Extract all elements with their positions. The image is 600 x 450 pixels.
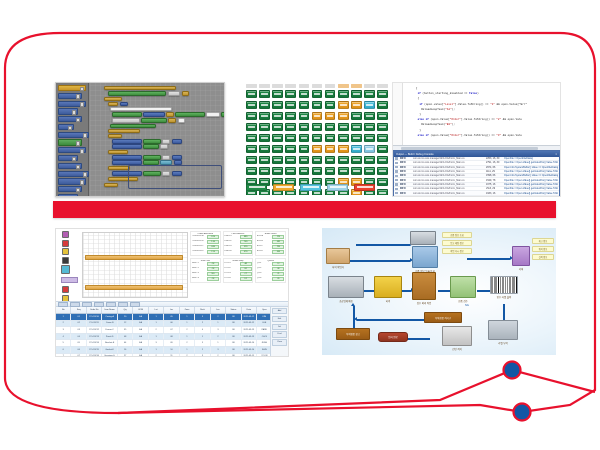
table-column-header[interactable]: Loc [164, 307, 179, 313]
note-value: 3.20 [207, 235, 219, 239]
close-icon[interactable]: × [555, 152, 557, 156]
toolbar-filter-button[interactable] [94, 302, 104, 307]
block-nub [76, 94, 80, 99]
table-side-buttons[interactable]: AddEditDelFindClose [270, 307, 288, 356]
status-cell[interactable] [259, 145, 270, 153]
code-block[interactable] [160, 160, 172, 165]
table-row[interactable]: 101PO-20210Casing-A20EA105132OK2021-03-1… [56, 314, 288, 321]
table-row[interactable]: 202PO-20211Cover-B12EA106121OK2021-03-12… [56, 321, 288, 328]
flow-annotation-ng-mark: NG [465, 304, 469, 307]
toolbar-print-button[interactable] [118, 302, 128, 307]
table-cell: 1 [56, 314, 71, 320]
table-cell: 3 [211, 347, 226, 353]
status-cell[interactable] [312, 145, 323, 153]
status-cell[interactable] [285, 101, 296, 109]
status-cell[interactable] [246, 156, 257, 164]
arrow-truck-to-unload [363, 290, 374, 292]
status-cell[interactable] [377, 156, 388, 164]
planning-board-panel[interactable]: Order AllocationITEM-0001-A3.20ITEM-0002… [55, 228, 289, 357]
code-console-panel[interactable]: {if (button_starting_disabled == false){… [392, 82, 561, 197]
code-token: (open.Value[ [429, 118, 450, 121]
code-block[interactable] [108, 102, 118, 106]
flow-node-shelving[interactable]: 선반 적치 [442, 326, 472, 351]
status-cell[interactable] [338, 167, 349, 175]
table-column-header[interactable]: Rack [195, 307, 210, 313]
table-cell: 2021-03-12 [242, 314, 257, 320]
note-value: 2.10 [207, 250, 219, 254]
status-cell[interactable] [259, 90, 270, 98]
toolbar-save-button[interactable] [82, 302, 92, 307]
status-cell[interactable] [259, 167, 270, 175]
status-cell[interactable] [325, 123, 336, 131]
status-cell[interactable] [325, 90, 336, 98]
status-cell[interactable] [364, 123, 375, 131]
note-group: Shift PlanSHIFT-1OKSHIFT-2OKSHIFT-3NGSHI… [190, 258, 221, 283]
code-token: "Order" [450, 118, 461, 121]
log-severity-icon [395, 192, 398, 194]
gantt-bar[interactable] [85, 285, 183, 290]
flow-node-icon-supply-vehicle [328, 276, 364, 298]
status-cell[interactable] [259, 112, 270, 120]
table-cell: 2021-03-14 [242, 340, 257, 346]
palette-block[interactable] [58, 178, 86, 184]
status-cell[interactable] [338, 112, 349, 120]
status-cell[interactable] [299, 123, 310, 131]
status-cell[interactable] [364, 167, 375, 175]
block-nub [76, 141, 80, 146]
table-cell: Casing-A [102, 314, 117, 320]
status-cell[interactable] [377, 90, 388, 98]
table-cell: 2 [180, 340, 195, 346]
log-console[interactable]: Output — Build / Debug Console × INFOcom… [393, 150, 560, 196]
toolbar-open-button[interactable] [70, 302, 80, 307]
flow-diagram-panel[interactable]: 입하 차량하역 작업자현품 정보 등록/조회서버공급업체 배송하역검수 의뢰 작… [322, 228, 556, 355]
code-token: } [419, 113, 421, 116]
status-cell[interactable] [338, 123, 349, 131]
code-block[interactable] [110, 107, 172, 111]
table-column-header[interactable]: No [56, 307, 71, 313]
table-cell: 7 [56, 354, 71, 357]
block-nub [80, 149, 84, 154]
status-cell[interactable] [285, 112, 296, 120]
table-cell: 2021-03-13 [242, 327, 257, 333]
planning-rail[interactable] [58, 231, 80, 299]
code-block[interactable] [143, 155, 161, 160]
table-row[interactable]: 707PO-20216Housing-G27EA211232OK2021-03-… [56, 354, 288, 357]
log-row-list[interactable]: INFOcom.sk.rcs.wcs.manager/AF/LOG/Form_M… [394, 157, 559, 196]
status-cell[interactable] [364, 112, 375, 120]
status-cell[interactable] [312, 90, 323, 98]
code-block[interactable] [182, 91, 189, 96]
palette-block[interactable] [58, 132, 89, 138]
legend-swatch-running [273, 184, 294, 191]
status-cell[interactable] [285, 145, 296, 153]
code-block[interactable] [143, 112, 165, 117]
table-cell: Frame-C [102, 327, 117, 333]
table-row[interactable]: 606PO-20215Gasket-F16EA110123OK2021-03-1… [56, 347, 288, 354]
code-block[interactable] [141, 118, 167, 123]
table-column-header[interactable]: Seq [71, 307, 86, 313]
status-cell[interactable] [377, 167, 388, 175]
code-block[interactable] [166, 112, 174, 117]
code-block[interactable] [143, 139, 161, 144]
palette-block[interactable] [58, 116, 82, 122]
flow-node-icon-complete: 입하 완료 [378, 332, 408, 342]
status-cell[interactable] [259, 101, 270, 109]
status-cell[interactable] [299, 145, 310, 153]
palette-block[interactable] [58, 139, 82, 145]
status-cell[interactable] [338, 156, 349, 164]
blocks-palette[interactable] [56, 83, 89, 196]
status-cell[interactable] [259, 156, 270, 164]
palette-block[interactable] [58, 93, 82, 99]
table-header-row: NoSeqOrder NoItem NameQtyUOMLotLocZoneRa… [56, 307, 288, 314]
code-block[interactable] [112, 118, 140, 123]
status-cell[interactable] [325, 156, 336, 164]
palette-block[interactable] [58, 163, 82, 169]
status-cell[interactable] [325, 112, 336, 120]
table-column-header[interactable]: Lev [211, 307, 226, 313]
table-cell: Cover-B [102, 321, 117, 327]
status-cell[interactable] [246, 101, 257, 109]
status-cell[interactable] [272, 145, 283, 153]
flow-node-supply-vehicle[interactable]: 공급업체 배송 [328, 276, 364, 303]
status-cell[interactable] [299, 167, 310, 175]
status-cell[interactable] [364, 134, 375, 142]
log-level: INFO [400, 157, 411, 160]
log-row[interactable]: INFOcom.sk.rcs.wcs.manager/AF/LOG/Form_M… [394, 191, 559, 195]
table-column-header[interactable]: Order No [87, 307, 102, 313]
palette-block[interactable] [58, 85, 86, 91]
note-value: C7 [240, 272, 252, 276]
note-label: LINE-03 [224, 245, 238, 249]
side-find-button[interactable]: Find [272, 331, 287, 337]
table-cell: Gasket-F [102, 347, 117, 353]
toolbar-export-button[interactable] [130, 302, 140, 307]
note-value: 1.40 [207, 240, 219, 244]
note-row: RT-101A3 [224, 262, 251, 266]
flow-node-ng-stock[interactable]: 부적합품 창고 [336, 328, 370, 340]
status-cell[interactable] [272, 90, 283, 98]
status-cell[interactable] [312, 101, 323, 109]
planning-gantt-grid[interactable] [82, 232, 188, 298]
flow-node-unload[interactable]: 하역 [374, 276, 402, 303]
status-cell[interactable] [338, 145, 349, 153]
palette-block[interactable] [58, 171, 89, 177]
status-cell[interactable] [325, 145, 336, 153]
status-cell[interactable] [364, 90, 375, 98]
table-column-header[interactable]: Lot [149, 307, 164, 313]
status-cell[interactable] [377, 178, 388, 186]
gantt-bar[interactable] [85, 255, 183, 260]
table-row[interactable]: 505PO-20214Bracket-E44EA309251OK2021-03-… [56, 340, 288, 347]
table-cell: OK [226, 321, 241, 327]
log-source: com.sk.rcs.wcs.manager/AF/LOG/Form_Main.… [413, 179, 484, 182]
status-cell[interactable] [325, 167, 336, 175]
log-position: 1111, 29 [486, 170, 502, 173]
status-cell[interactable] [246, 123, 257, 131]
pin-yellow-icon[interactable] [62, 248, 69, 255]
pin-purple-icon[interactable] [62, 231, 69, 238]
table-column-header[interactable]: Date [242, 307, 257, 313]
status-cell[interactable] [299, 112, 310, 120]
status-cell[interactable] [351, 123, 362, 131]
log-source: com.sk.rcs.wcs.manager/AF/LOG/Form_Main.… [413, 187, 484, 190]
status-cell[interactable] [377, 145, 388, 153]
code-block[interactable] [178, 118, 185, 123]
status-cell[interactable] [377, 134, 388, 142]
status-cell[interactable] [285, 90, 296, 98]
block-selection-outline [128, 165, 222, 189]
flow-node-label-unload: 하역 [386, 299, 390, 303]
status-cell[interactable] [377, 101, 388, 109]
code-block[interactable] [175, 112, 205, 117]
tag-lavender-icon[interactable] [61, 277, 78, 283]
status-cell[interactable] [246, 112, 257, 120]
note-row: ITEM-0001-A3.20 [192, 235, 219, 239]
status-cell[interactable] [285, 156, 296, 164]
status-cell[interactable] [272, 167, 283, 175]
status-cell[interactable] [325, 101, 336, 109]
flow-node-label-scan: 라벨 부착 [498, 341, 507, 345]
status-cell[interactable] [338, 90, 349, 98]
note-label: RT-103 [224, 272, 238, 276]
status-cell[interactable] [325, 134, 336, 142]
status-cell[interactable] [259, 134, 270, 142]
log-level: INFO [400, 170, 411, 173]
code-block[interactable] [108, 129, 140, 133]
flow-node-label-qc: 현품 검수 [458, 299, 467, 303]
code-block[interactable] [120, 102, 128, 106]
note-label: BUF-C [257, 245, 271, 249]
flow-node-inspect-doc[interactable]: 검수 의뢰 작업 [412, 272, 436, 305]
status-cell[interactable] [377, 189, 388, 195]
note-row: Q-0405 [257, 277, 284, 281]
block-nub [83, 172, 87, 177]
flow-node-icon-server [512, 246, 530, 266]
status-cell[interactable] [272, 101, 283, 109]
code-block[interactable] [108, 166, 130, 170]
palette-block[interactable] [58, 101, 86, 107]
code-block[interactable] [112, 112, 142, 117]
status-cell[interactable] [312, 112, 323, 120]
log-severity-icon [395, 157, 398, 159]
code-block[interactable] [110, 124, 156, 128]
palette-block[interactable] [58, 194, 78, 197]
status-cell[interactable] [246, 167, 257, 175]
code-token: && open.Valu [501, 118, 522, 121]
status-cell[interactable] [364, 101, 375, 109]
status-cell[interactable] [272, 123, 283, 131]
palette-block[interactable] [58, 155, 78, 161]
status-cell[interactable] [377, 123, 388, 131]
code-block[interactable] [104, 97, 122, 101]
flow-tag-tag-2: 입고 예정 정보 [442, 240, 472, 246]
code-token: ].Value.ToString() == [461, 118, 496, 121]
log-source: com.sk.rcs.wcs.manager/AF/LOG/Form_Main.… [413, 183, 484, 186]
arrow-vehicle-to-terminal [356, 244, 410, 246]
toolbar-sort-button[interactable] [106, 302, 116, 307]
status-cell[interactable] [351, 167, 362, 175]
status-cell[interactable] [246, 134, 257, 142]
table-cell: 01 [71, 314, 86, 320]
blocks-canvas[interactable] [90, 83, 224, 196]
status-cell[interactable] [312, 123, 323, 131]
table-cell: PO-20215 [87, 347, 102, 353]
status-cell[interactable] [351, 112, 362, 120]
code-block[interactable] [172, 139, 182, 144]
status-cell[interactable] [312, 167, 323, 175]
status-cell[interactable] [312, 134, 323, 142]
code-block[interactable] [104, 183, 118, 187]
flow-node-server[interactable]: 서버 [512, 246, 530, 271]
status-cell[interactable] [246, 145, 257, 153]
pin-red-icon[interactable] [62, 240, 69, 247]
status-cell[interactable] [377, 112, 388, 120]
status-cell[interactable] [299, 101, 310, 109]
table-cell: 2 [149, 354, 164, 357]
status-cell[interactable] [299, 90, 310, 98]
code-block[interactable] [168, 91, 180, 96]
code-block[interactable] [112, 160, 142, 165]
status-cell[interactable] [338, 134, 349, 142]
note-row: RT-103C7 [224, 272, 251, 276]
note-value: A3 [240, 262, 252, 266]
table-column-header[interactable]: Zone [180, 307, 195, 313]
status-cell[interactable] [272, 112, 283, 120]
log-message: OpenFile = Open.Value[].getIndexPos().Va… [504, 179, 558, 182]
code-block[interactable] [168, 118, 176, 123]
status-grid-panel[interactable] [240, 82, 392, 195]
status-cell[interactable] [364, 145, 375, 153]
table-column-header[interactable]: Qty [118, 307, 133, 313]
note-group: Order AllocationITEM-0001-A3.20ITEM-0002… [190, 231, 221, 256]
palette-block[interactable] [58, 186, 82, 192]
table-column-header[interactable]: UOM [133, 307, 148, 313]
code-block[interactable] [112, 139, 142, 144]
status-cell[interactable] [272, 156, 283, 164]
log-source: com.sk.rcs.wcs.manager/AF/LOG/Form_Main.… [413, 170, 484, 173]
flow-node-label-print[interactable]: 인수 라벨 출력 [490, 276, 518, 299]
code-block[interactable] [162, 155, 170, 160]
decorative-frame [0, 0, 600, 450]
flow-node-ng-zone[interactable]: 부적합품 격리구 [424, 312, 462, 323]
blocks-editor-panel[interactable] [55, 82, 225, 197]
status-cell[interactable] [285, 123, 296, 131]
block-nub [72, 110, 76, 115]
code-block[interactable] [221, 112, 225, 117]
table-column-header[interactable]: Status [226, 307, 241, 313]
code-block[interactable] [206, 112, 220, 117]
table-cell: 09 [164, 340, 179, 346]
status-cell[interactable] [299, 156, 310, 164]
log-message: OpenFile = Open.Value[].getIndexPos().Va… [504, 183, 558, 186]
table-cell: 2 [180, 354, 195, 357]
palette-block[interactable] [58, 147, 86, 153]
status-cell[interactable] [299, 134, 310, 142]
side-add-button[interactable]: Add [272, 308, 287, 314]
status-cell[interactable] [272, 134, 283, 142]
flow-node-qc[interactable]: 현품 검수 [450, 276, 476, 303]
status-cell[interactable] [364, 156, 375, 164]
status-cell[interactable] [351, 134, 362, 142]
table-cell: 04 [71, 334, 86, 340]
note-group: Line BalanceLINE-0188%LINE-0274%LINE-039… [223, 231, 254, 256]
note-label: RT-101 [224, 262, 238, 266]
palette-block[interactable] [58, 124, 74, 130]
table-body[interactable]: 101PO-20210Casing-A20EA105132OK2021-03-1… [56, 314, 288, 357]
node-cyan-icon[interactable] [61, 265, 70, 274]
data-table[interactable]: NoSeqOrder NoItem NameQtyUOMLotLocZoneRa… [56, 301, 288, 356]
table-row[interactable]: 404PO-20213Panel-D08EA108112OK2021-03-13… [56, 334, 288, 341]
status-cell[interactable] [285, 134, 296, 142]
note-row: SHIFT-4OK [192, 277, 219, 281]
status-cell[interactable] [338, 101, 349, 109]
code-block[interactable] [143, 160, 159, 165]
table-column-header[interactable]: Item Name [102, 307, 117, 313]
table-cell: 20 [118, 314, 133, 320]
table-cell: 3 [195, 354, 210, 357]
block-nub [80, 102, 84, 107]
status-cell[interactable] [351, 101, 362, 109]
pin-black-icon[interactable] [62, 257, 69, 264]
status-cell[interactable] [351, 90, 362, 98]
side-edit-button[interactable]: Edit [272, 316, 287, 322]
palette-block[interactable] [58, 108, 78, 114]
code-block[interactable] [162, 139, 170, 144]
table-row[interactable]: 303PO-20212Frame-C35EA207243OK2021-03-13… [56, 327, 288, 334]
status-cell[interactable] [259, 123, 270, 131]
code-block[interactable] [108, 91, 166, 96]
side-close-button[interactable]: Close [272, 339, 287, 345]
log-level: INFO [400, 161, 411, 164]
planning-board-top[interactable]: Order AllocationITEM-0001-A3.20ITEM-0002… [56, 229, 288, 301]
status-cell[interactable] [285, 167, 296, 175]
code-block[interactable] [104, 86, 176, 90]
status-cell[interactable] [312, 156, 323, 164]
code-block[interactable] [172, 155, 182, 160]
status-grid-cells[interactable] [246, 90, 388, 195]
code-block[interactable] [108, 134, 122, 138]
pin-red-icon[interactable] [62, 286, 69, 293]
toolbar-new-button[interactable] [58, 302, 68, 307]
code-block[interactable] [143, 144, 159, 149]
side-del-button[interactable]: Del [272, 324, 287, 330]
flow-node-terminal[interactable]: 현품 정보 등록/조회 [412, 246, 438, 273]
flow-node-worker[interactable]: 하역 작업자 [326, 248, 350, 269]
log-severity-icon [395, 183, 398, 185]
flow-node-complete[interactable]: 입하 완료 [378, 332, 408, 342]
note-row: SHIFT-1OK [192, 262, 219, 266]
arrow-unload-to-inspect [401, 290, 411, 292]
status-cell[interactable] [351, 145, 362, 153]
code-editor[interactable]: {if (button_starting_disabled == false){… [393, 83, 560, 145]
code-block[interactable] [174, 160, 182, 165]
table-cell: 2021-03-14 [242, 347, 257, 353]
code-block[interactable] [108, 150, 128, 154]
status-cell[interactable] [246, 90, 257, 98]
code-block[interactable] [112, 155, 142, 160]
code-block[interactable] [112, 144, 142, 149]
status-cell[interactable] [351, 156, 362, 164]
note-label: ITEM-0001-A [192, 235, 206, 239]
note-group: Route MapRT-101A3RT-102B1RT-103C7RT-104D… [223, 258, 254, 283]
note-row: Q-0321 [257, 272, 284, 276]
code-block[interactable] [160, 144, 168, 149]
log-message: OpenFile = Open.Value[].getIndexPos().Va… [504, 170, 558, 173]
note-label: LINE-04 [224, 250, 238, 254]
flow-node-scan[interactable]: 라벨 부착 [488, 320, 518, 345]
